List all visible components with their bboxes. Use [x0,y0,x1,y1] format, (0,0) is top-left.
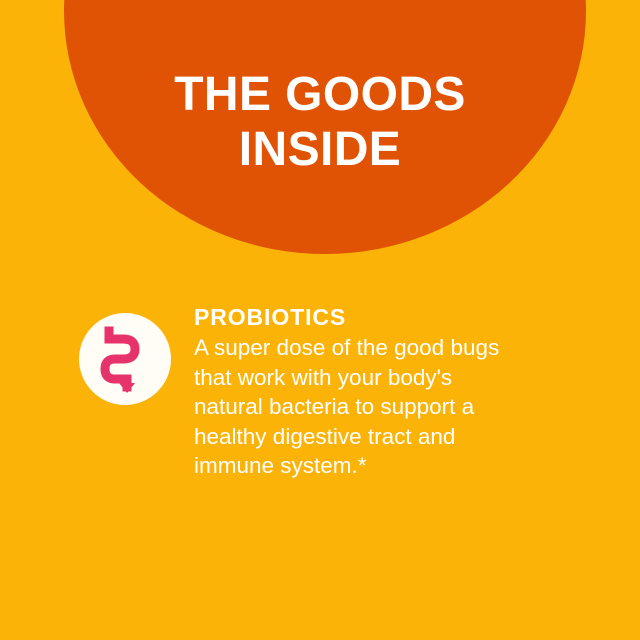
page-title: THE GOODS INSIDE [0,68,640,177]
intestine-icon [93,323,157,395]
page-title-line-1: THE GOODS [0,68,640,123]
supplement-benefits-panel: THE GOODS INSIDE PROBIOTICS A super dose… [0,0,640,640]
icon-badge [79,313,171,405]
benefit-item: PROBIOTICS A super dose of the good bugs… [0,305,640,481]
page-title-line-2: INSIDE [0,123,640,178]
benefit-description: A super dose of the good bugs that work … [194,333,554,480]
benefit-text-block: PROBIOTICS A super dose of the good bugs… [194,305,640,481]
benefit-heading: PROBIOTICS [194,305,580,330]
